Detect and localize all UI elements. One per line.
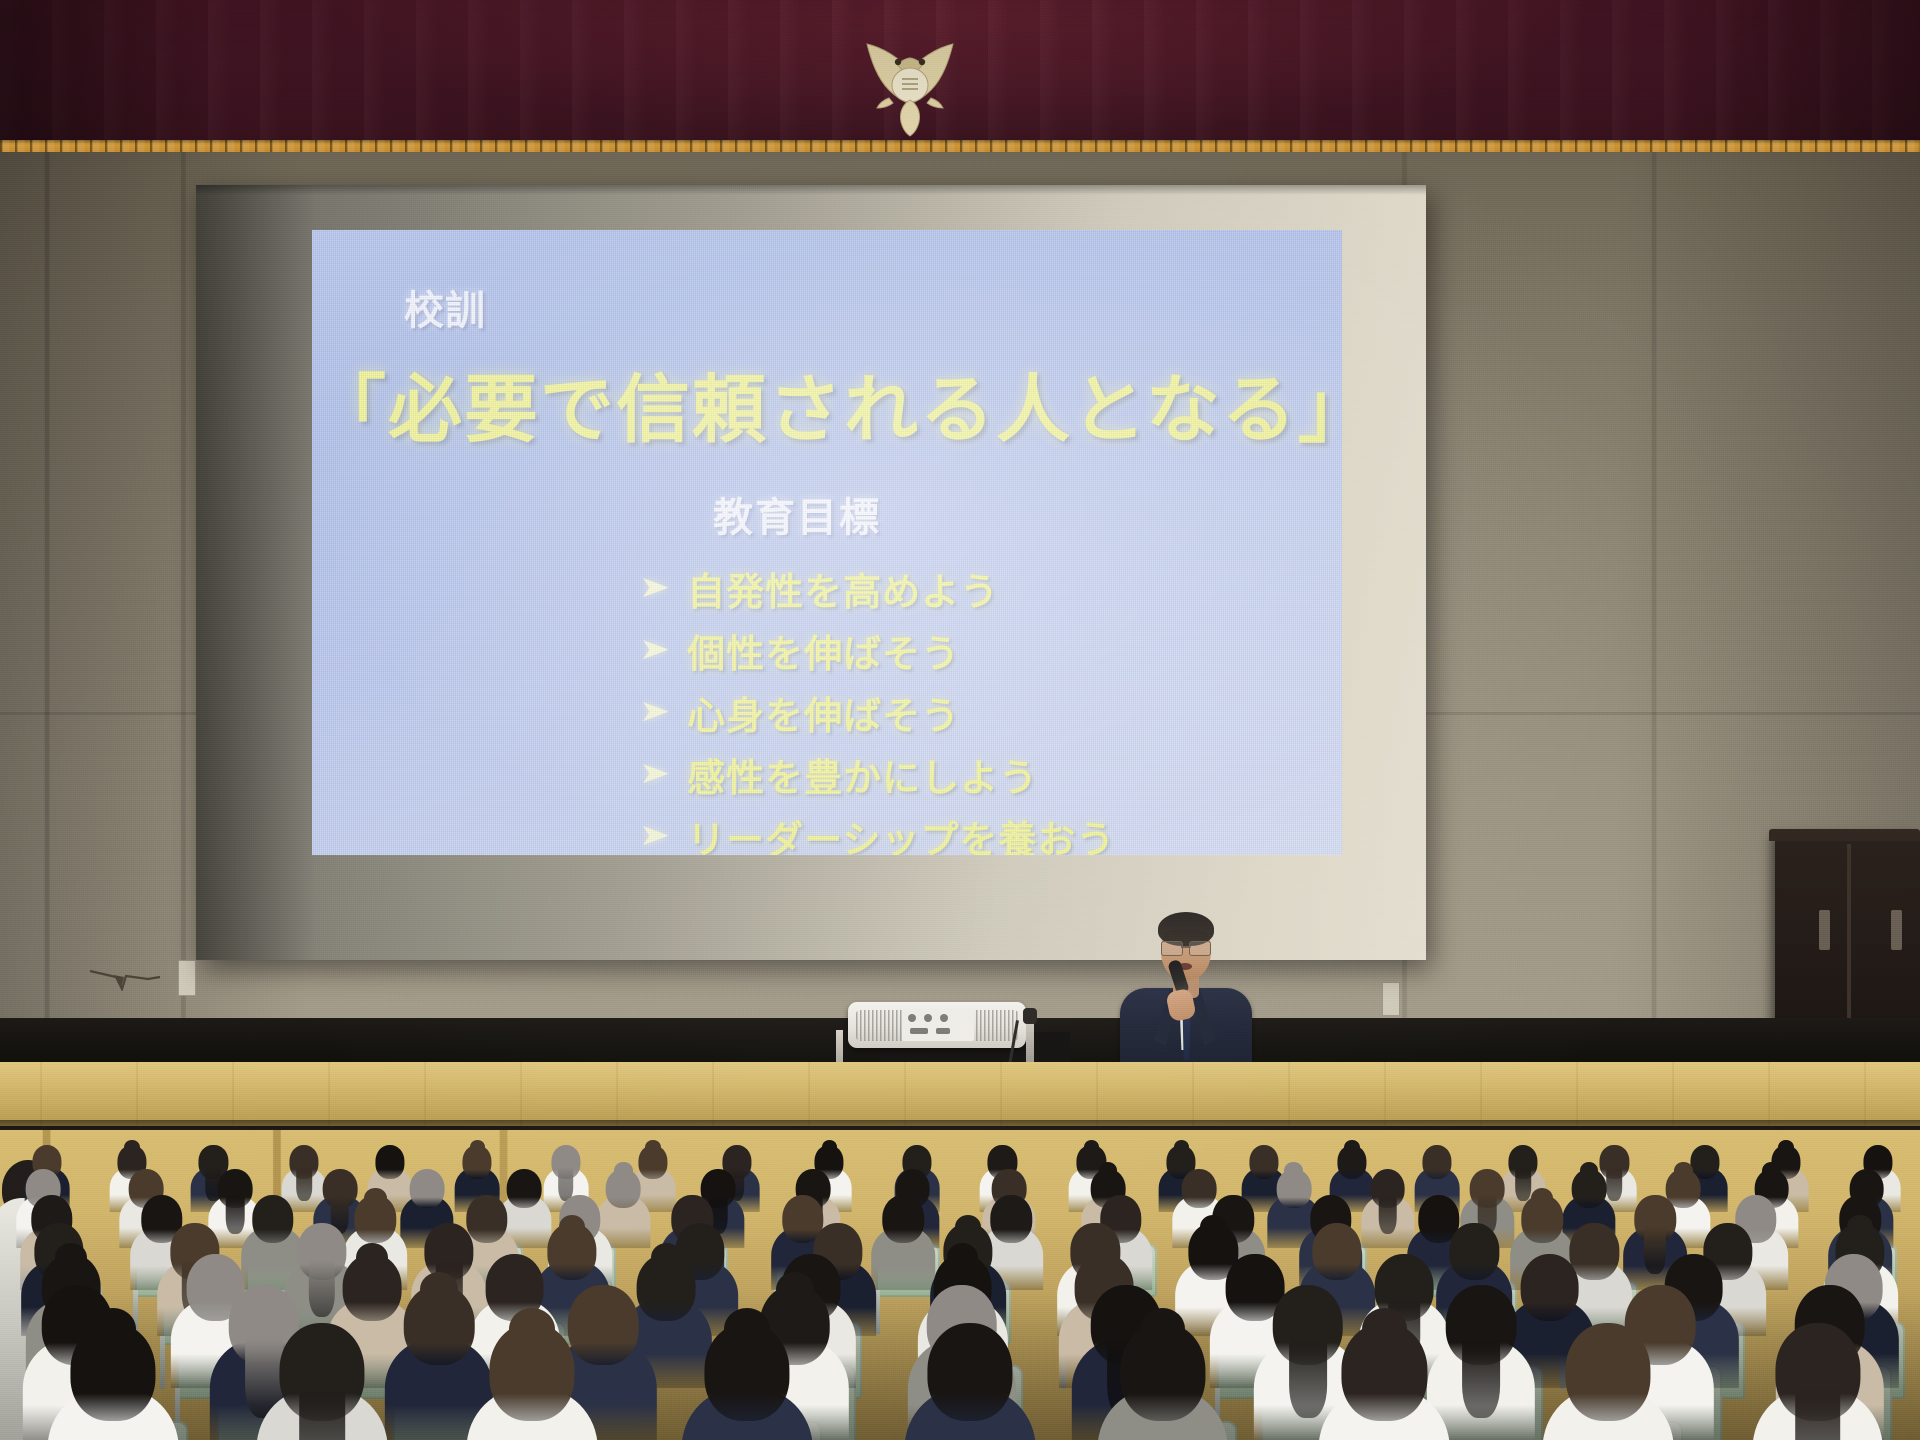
audience-member [1748,1290,1888,1440]
slide-bullet-item: ➤ 個性を伸ばそう [642,622,1115,678]
wall-outlet-left [178,960,196,996]
audience-member-hair-bun [1531,1188,1553,1209]
wall-outlet-right [1382,982,1400,1016]
audience-member-hair-bun [1284,1162,1303,1179]
curtain-right-shadow [1660,0,1920,152]
audience-member-head [927,1323,1012,1420]
audience-member-head [1566,1323,1651,1420]
audience-member [1538,1290,1678,1440]
audience-member [1315,1290,1455,1440]
audience-member-hair-bun [724,1308,770,1351]
audience-member-hair-bun [364,1188,386,1209]
audience-member-hair-bun [1099,1162,1118,1179]
audience-member-hair-bun [509,1308,555,1351]
audience-member-head [410,1169,445,1209]
bullet-arrow-icon: ➤ [639,635,670,665]
audience-member-hair-bun [1674,1162,1693,1179]
eyeglasses-icon [1160,941,1212,954]
audience-member-ponytail [1462,1338,1500,1419]
cabinet-top-edge [1769,829,1920,841]
slide-heading-label: 校訓 [404,278,486,336]
bullet-label: 感性を豊かにしよう [687,747,1038,802]
bullet-label: リーダーシップを養おう [687,809,1115,856]
slide-bullet-item: ➤ 感性を豊かにしよう [642,746,1115,802]
projected-slide: 校訓 「必要で信頼される人となる」 教育目標 ➤ 自発性を高めよう ➤ 個性を伸… [312,230,1342,855]
bullet-arrow-icon: ➤ [639,821,670,851]
audience-member-hair-bun [1580,1162,1599,1179]
bullet-arrow-icon: ➤ [639,759,670,789]
audience-member-hair-bun [1762,1162,1781,1179]
bullet-arrow-icon: ➤ [639,573,670,603]
seated-audience [0,1040,1920,1440]
audience-member-hair-bun [645,1140,661,1155]
auditorium-photo-scene: 校訓 「必要で信頼される人となる」 教育目標 ➤ 自発性を高めよう ➤ 個性を伸… [0,0,1920,1440]
audience-member-ponytail [1795,1387,1841,1440]
slide-bullet-item: ➤ 自発性を高めよう [642,560,1115,616]
audience-member-ponytail [1378,1195,1397,1235]
curtain-left-shadow [0,0,230,152]
audience-member-hair-bun [1140,1308,1186,1351]
slide-bullet-item: ➤ 心身を伸ばそう [642,684,1115,740]
cabinet-door-split [1847,844,1851,1034]
audience-member [252,1290,392,1440]
audience-member-ponytail [299,1387,345,1440]
slide-bullet-item: ➤ リーダーシップを養おう [642,808,1115,855]
projector-port-panel [902,1009,974,1041]
audience-member [1093,1290,1233,1440]
audience-member-hair-bun [124,1140,140,1155]
audience-member-head [1422,1145,1451,1178]
bullet-label: 個性を伸ばそう [687,623,960,678]
audience-member [677,1290,817,1440]
slide-content: 校訓 「必要で信頼される人となる」 教育目標 ➤ 自発性を高めよう ➤ 個性を伸… [312,230,1342,855]
bullet-label: 自発性を高めよう [687,561,999,616]
golden-eagle-crest-icon [845,30,975,140]
audience-member-hair-bun [470,1140,486,1155]
slide-bullet-list: ➤ 自発性を高めよう ➤ 個性を伸ばそう ➤ 心身を伸ばそう ➤ 感性を豊かにし… [642,560,1115,855]
dark-storage-cabinet[interactable] [1775,838,1920,1038]
audience-member-hair-bun [822,1140,838,1155]
audience-member-hair-bun [1362,1308,1408,1351]
audience-member-hair-bun [614,1162,633,1179]
cabinet-handle-left[interactable] [1819,910,1830,950]
screen-left-shading [196,185,316,960]
wall-hook-icon [88,965,168,991]
audience-member-hair-bun [1084,1140,1100,1155]
audience-member-hair-bun [1344,1140,1360,1155]
slide-subtitle: 教育目標 [312,485,1342,543]
audience-member-hair-bun [90,1308,136,1351]
bullet-arrow-icon: ➤ [639,697,670,727]
bullet-label: 心身を伸ばそう [687,685,960,740]
audience-member [462,1290,602,1440]
audience-member-hair-bun [1174,1140,1190,1155]
audience-member [43,1290,183,1440]
audience-member-hair-bun [1778,1140,1794,1155]
projection-screen: 校訓 「必要で信頼される人となる」 教育目標 ➤ 自発性を高めよう ➤ 個性を伸… [196,185,1426,960]
slide-title: 「必要で信頼される人となる」 [312,350,1342,457]
cabinet-handle-right[interactable] [1891,910,1902,950]
audience-member [900,1290,1040,1440]
